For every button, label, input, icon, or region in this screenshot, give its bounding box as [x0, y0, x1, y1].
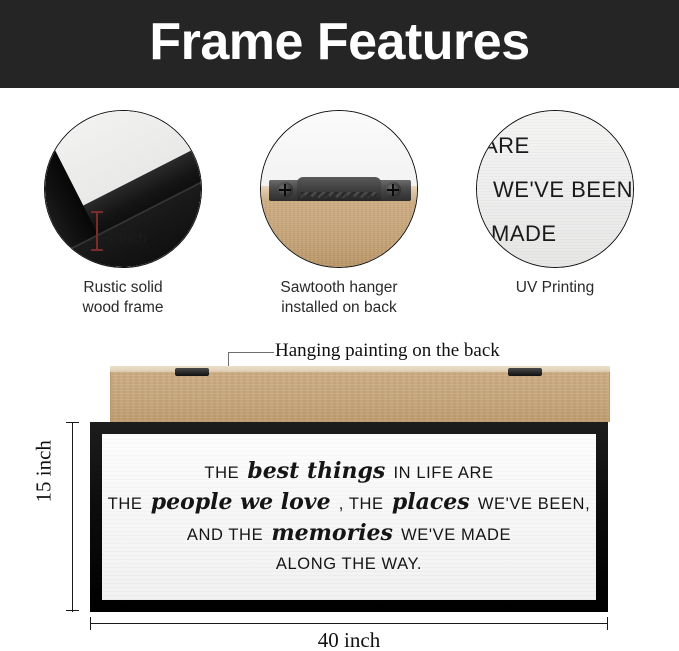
- sign-script-word: best things: [244, 458, 388, 484]
- sign-caps-word: WE'VE MADE: [401, 526, 511, 544]
- feature-photo-uv-printing: ARE WE'VE BEEN MADE: [476, 110, 634, 268]
- feature-sawtooth-hanger: Sawtooth hanger installed on back: [226, 96, 452, 326]
- feature-row: 1 inch Rustic solid wood frame Sawtooth …: [0, 96, 679, 326]
- sign-line: THE people we love , THE places WE'VE BE…: [108, 491, 591, 515]
- sign-script-word: places: [389, 489, 473, 515]
- back-sawtooth-hanger-left: [175, 368, 209, 376]
- feature-photo-sawtooth-hanger: [260, 110, 418, 268]
- sign-caps-word: THE: [204, 464, 239, 482]
- hanger-kraft-backing: [261, 201, 417, 267]
- framed-sign: THE best things IN LIFE ARE THE people w…: [90, 422, 608, 612]
- sign-caps-word: THE: [108, 495, 143, 513]
- dimension-line-width: [90, 623, 608, 624]
- sawtooth-hanger-photo: [261, 111, 417, 267]
- back-sawtooth-hanger-right: [508, 368, 542, 376]
- screw-left-icon: [277, 182, 293, 198]
- uv-macro-line-1: ARE: [483, 133, 530, 159]
- page-title: Frame Features: [0, 8, 679, 76]
- measure-marker-icon: [91, 211, 103, 251]
- sign-caps-word: IN LIFE ARE: [393, 464, 493, 482]
- product-infographic: Frame Features 1 inch Rustic s: [0, 0, 679, 651]
- feature-rustic-frame: 1 inch Rustic solid wood frame: [10, 96, 236, 326]
- feature-uv-printing: ARE WE'VE BEEN MADE UV Printing: [442, 96, 668, 326]
- callout-hanging-painting-label: Hanging painting on the back: [275, 340, 500, 362]
- sign-white-panel: THE best things IN LIFE ARE THE people w…: [102, 434, 596, 600]
- sign-caps-word: WE'VE BEEN,: [478, 495, 590, 513]
- sign-caps-word: , THE: [339, 495, 384, 513]
- dimension-cap-height-bottom: [66, 610, 79, 611]
- dimension-label-width: 40 inch: [90, 628, 608, 651]
- sign-script-word: memories: [268, 520, 396, 546]
- feature-caption-uv-printing: UV Printing: [442, 278, 668, 298]
- sign-script-word: people we love: [148, 489, 334, 515]
- sign-caps-word: AND THE: [187, 526, 263, 544]
- sign-line: THE best things IN LIFE ARE: [204, 460, 493, 484]
- feature-photo-rustic-frame: 1 inch: [44, 110, 202, 268]
- uv-macro-line-3: MADE: [491, 221, 557, 247]
- dimension-line-height: [72, 422, 73, 612]
- dimension-cap-height-top: [66, 422, 79, 423]
- sign-line: ALONG THE WAY.: [276, 553, 422, 575]
- callout-leader-horizontal: [228, 352, 274, 353]
- sign-caps-word: ALONG THE WAY.: [276, 555, 422, 573]
- feature-caption-rustic-frame: Rustic solid wood frame: [10, 278, 236, 318]
- feature-caption-sawtooth-hanger: Sawtooth hanger installed on back: [226, 278, 452, 318]
- sign-line: AND THE memories WE'VE MADE: [187, 522, 511, 546]
- uv-macro-line-2: WE'VE BEEN: [493, 177, 633, 203]
- measure-label-1-inch: 1 inch: [107, 230, 147, 247]
- dimension-label-height: 15 inch: [32, 463, 57, 503]
- screw-right-icon: [385, 182, 401, 198]
- sign-quote-text: THE best things IN LIFE ARE THE people w…: [102, 434, 596, 600]
